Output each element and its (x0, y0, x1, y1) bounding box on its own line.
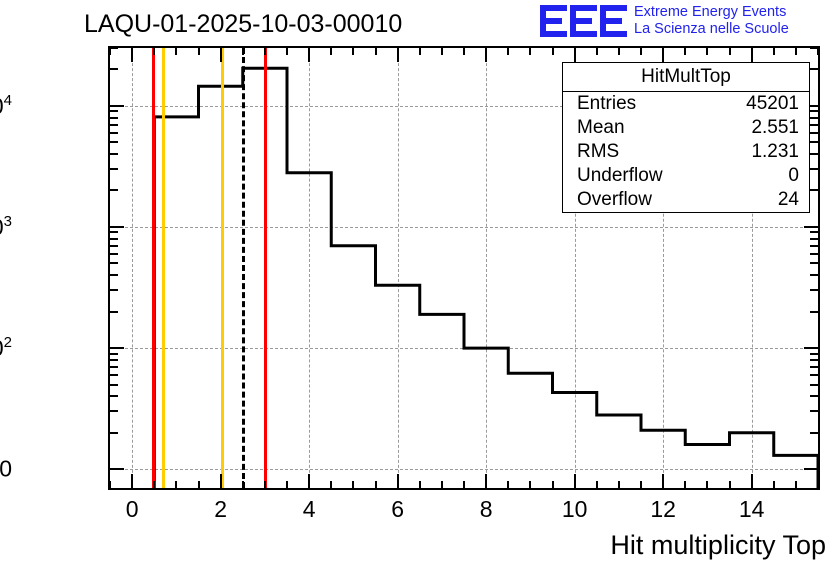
eee-logo: Extreme Energy Events La Scienza nelle S… (540, 2, 832, 42)
stats-row-value: 1.231 (751, 141, 799, 163)
x-tick-major-top (220, 48, 222, 62)
y-tick-major (110, 347, 124, 349)
black-dashed-line (242, 48, 245, 488)
x-tick-minor-top (618, 48, 620, 55)
x-tick-minor-top (684, 48, 686, 55)
y-tick-minor (110, 289, 118, 291)
y-tick-label: 102 (0, 334, 12, 362)
x-tick-minor-top (198, 48, 200, 55)
y-tick-minor (110, 153, 118, 155)
x-tick-minor-top (463, 48, 465, 55)
x-tick-minor-top (441, 48, 443, 55)
x-tick-label: 12 (650, 496, 676, 523)
x-tick-label: 6 (391, 496, 404, 523)
x-tick-major-top (397, 48, 399, 62)
eee-logo-line2: La Scienza nelle Scuole (634, 21, 789, 38)
x-tick-minor (596, 481, 598, 488)
x-tick-minor (529, 481, 531, 488)
y-tick-major-right (804, 347, 818, 349)
y-tick-minor (110, 262, 118, 264)
x-tick-major-top (131, 48, 133, 62)
y-tick-minor (110, 395, 118, 397)
stats-rows: Entries45201Mean2.551RMS1.231Underflow0O… (563, 92, 809, 212)
x-tick-minor-top (242, 48, 244, 55)
y-tick-minor-right (810, 245, 818, 247)
stats-row-value: 45201 (746, 93, 799, 115)
y-tick-major-right (804, 468, 818, 470)
x-tick-minor (684, 481, 686, 488)
eee-logo-line1: Extreme Energy Events (634, 4, 789, 21)
x-tick-minor-top (596, 48, 598, 55)
stats-row-label: Underflow (577, 165, 663, 187)
y-tick-minor (110, 274, 118, 276)
y-tick-minor-right (810, 311, 818, 313)
x-tick-major (220, 474, 222, 488)
x-tick-label: 14 (739, 496, 765, 523)
y-tick-minor-right (810, 253, 818, 255)
y-tick-minor (110, 432, 118, 434)
y-tick-minor (110, 374, 118, 376)
y-tick-minor-right (810, 359, 818, 361)
y-tick-minor-right (810, 274, 818, 276)
x-tick-label: 8 (480, 496, 493, 523)
x-tick-minor (507, 481, 509, 488)
y-tick-minor-right (810, 231, 818, 233)
y-tick-minor (110, 410, 118, 412)
y-tick-minor-right (810, 124, 818, 126)
x-tick-major-top (485, 48, 487, 62)
x-tick-major-top (574, 48, 576, 62)
y-tick-major-right (804, 226, 818, 228)
x-tick-minor (352, 481, 354, 488)
x-tick-minor-top (507, 48, 509, 55)
orange-line-1 (162, 48, 165, 488)
y-tick-minor (110, 245, 118, 247)
x-tick-minor (153, 481, 155, 488)
x-tick-minor (463, 481, 465, 488)
y-tick-minor-right (810, 353, 818, 355)
y-tick-major (110, 105, 124, 107)
x-tick-minor-top (330, 48, 332, 55)
y-tick-minor (110, 117, 118, 119)
plot-canvas: LAQU-01-2025-10-03-00010 Extreme Energy … (0, 0, 836, 572)
y-tick-label: 103 (0, 213, 12, 241)
y-tick-minor (110, 110, 118, 112)
eee-logo-icon (540, 4, 628, 38)
y-tick-minor (110, 253, 118, 255)
x-tick-minor-top (729, 48, 731, 55)
x-tick-minor-top (419, 48, 421, 55)
y-tick-major (110, 226, 124, 228)
x-tick-major (397, 474, 399, 488)
y-tick-minor-right (810, 132, 818, 134)
y-tick-minor-right (810, 141, 818, 143)
red-line-1 (152, 48, 155, 488)
y-tick-minor (110, 47, 118, 49)
x-tick-minor (706, 481, 708, 488)
x-tick-minor-top (286, 48, 288, 55)
y-tick-label: 104 (0, 92, 12, 120)
x-tick-minor-top (817, 48, 819, 55)
stats-row-label: Entries (577, 93, 636, 115)
stats-row: Overflow24 (563, 188, 809, 212)
orange-line-2 (221, 48, 224, 488)
y-tick-minor (110, 366, 118, 368)
y-tick-minor-right (810, 289, 818, 291)
y-tick-minor-right (810, 238, 818, 240)
x-tick-minor (729, 481, 731, 488)
y-tick-minor-right (810, 168, 818, 170)
x-tick-label: 4 (303, 496, 316, 523)
stats-row-value: 24 (778, 189, 799, 211)
y-tick-minor-right (810, 432, 818, 434)
x-tick-minor (618, 481, 620, 488)
x-tick-label: 0 (126, 496, 139, 523)
x-tick-minor (109, 481, 111, 488)
y-tick-minor (110, 168, 118, 170)
x-tick-minor-top (375, 48, 377, 55)
x-tick-minor (773, 481, 775, 488)
page-title: LAQU-01-2025-10-03-00010 (84, 10, 402, 39)
y-tick-major (110, 468, 124, 470)
y-tick-minor (110, 124, 118, 126)
x-tick-minor (286, 481, 288, 488)
x-tick-label: 2 (214, 496, 227, 523)
x-tick-minor-top (109, 48, 111, 55)
y-tick-minor-right (810, 189, 818, 191)
x-tick-minor-top (640, 48, 642, 55)
y-tick-minor (110, 189, 118, 191)
x-tick-major (662, 474, 664, 488)
y-tick-minor (110, 238, 118, 240)
x-tick-minor-top (175, 48, 177, 55)
stats-row: Entries45201 (563, 92, 809, 116)
y-tick-minor (110, 231, 118, 233)
stats-row-label: RMS (577, 141, 619, 163)
stats-row-value: 0 (788, 165, 799, 187)
x-tick-major (751, 474, 753, 488)
x-tick-minor (264, 481, 266, 488)
y-tick-minor-right (810, 68, 818, 70)
x-tick-minor (330, 481, 332, 488)
y-tick-minor-right (810, 262, 818, 264)
stats-box: HitMultTop Entries45201Mean2.551RMS1.231… (562, 62, 810, 213)
stats-row: Mean2.551 (563, 116, 809, 140)
x-tick-minor (817, 481, 819, 488)
x-tick-label: 10 (562, 496, 588, 523)
x-tick-minor (175, 481, 177, 488)
y-tick-minor (110, 132, 118, 134)
x-tick-minor-top (264, 48, 266, 55)
x-tick-minor-top (773, 48, 775, 55)
y-tick-minor-right (810, 366, 818, 368)
y-tick-minor (110, 359, 118, 361)
x-tick-major (485, 474, 487, 488)
x-tick-major (131, 474, 133, 488)
y-tick-minor-right (810, 374, 818, 376)
stats-row: RMS1.231 (563, 140, 809, 164)
y-tick-minor-right (810, 117, 818, 119)
y-tick-label: 10 (0, 456, 12, 483)
x-tick-minor (640, 481, 642, 488)
y-tick-minor-right (810, 47, 818, 49)
y-tick-minor-right (810, 153, 818, 155)
x-tick-minor-top (795, 48, 797, 55)
x-tick-minor-top (552, 48, 554, 55)
x-tick-major-top (662, 48, 664, 62)
y-tick-minor-right (810, 395, 818, 397)
x-tick-minor (198, 481, 200, 488)
x-tick-minor (375, 481, 377, 488)
x-tick-major-top (308, 48, 310, 62)
x-tick-minor (552, 481, 554, 488)
stats-row-label: Overflow (577, 189, 652, 211)
x-tick-major (574, 474, 576, 488)
stats-row: Underflow0 (563, 164, 809, 188)
y-tick-minor (110, 141, 118, 143)
y-tick-minor (110, 384, 118, 386)
stats-row-label: Mean (577, 117, 625, 139)
y-tick-minor-right (810, 110, 818, 112)
y-tick-minor (110, 68, 118, 70)
x-tick-minor-top (706, 48, 708, 55)
x-axis-title: Hit multiplicity Top (610, 530, 826, 561)
x-tick-minor (242, 481, 244, 488)
x-tick-minor (419, 481, 421, 488)
y-tick-minor (110, 311, 118, 313)
y-tick-minor (110, 353, 118, 355)
y-tick-minor-right (810, 410, 818, 412)
stats-title: HitMultTop (563, 63, 809, 92)
red-line-2 (264, 48, 267, 488)
x-tick-minor (795, 481, 797, 488)
x-tick-minor-top (153, 48, 155, 55)
x-tick-minor (441, 481, 443, 488)
stats-row-value: 2.551 (751, 117, 799, 139)
eee-logo-text: Extreme Energy Events La Scienza nelle S… (634, 4, 789, 37)
x-tick-major-top (751, 48, 753, 62)
x-tick-minor-top (352, 48, 354, 55)
y-tick-minor-right (810, 384, 818, 386)
x-tick-major (308, 474, 310, 488)
x-tick-minor-top (529, 48, 531, 55)
